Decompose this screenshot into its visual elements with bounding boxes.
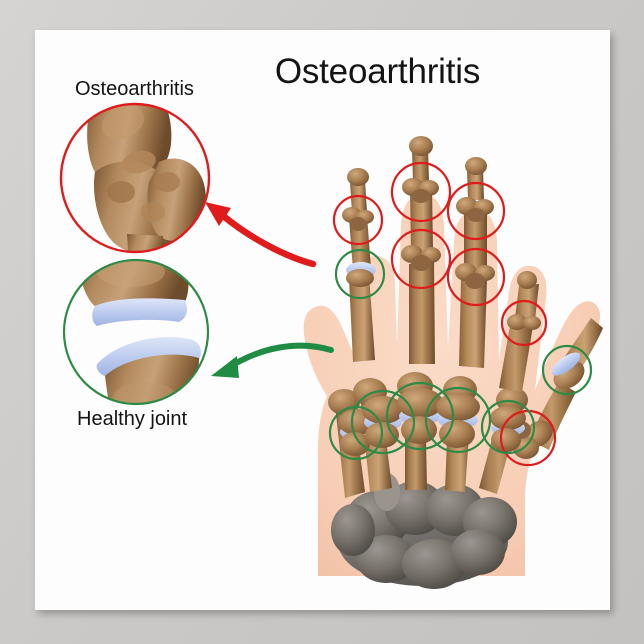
inset-osteoarthritis-figure <box>55 79 220 264</box>
red-callout-arrow <box>205 202 313 264</box>
screenshot-stage: Osteoarthritis Osteoarthritis Healthy jo… <box>0 0 644 644</box>
inset-osteoarthritis-label: Osteoarthritis <box>75 78 194 101</box>
inset-healthy-joint-figure <box>57 248 222 429</box>
anatomy-illustration <box>35 30 610 610</box>
poster-card: Osteoarthritis Osteoarthritis Healthy jo… <box>35 30 610 610</box>
inset-healthy-joint-label: Healthy joint <box>77 408 187 431</box>
